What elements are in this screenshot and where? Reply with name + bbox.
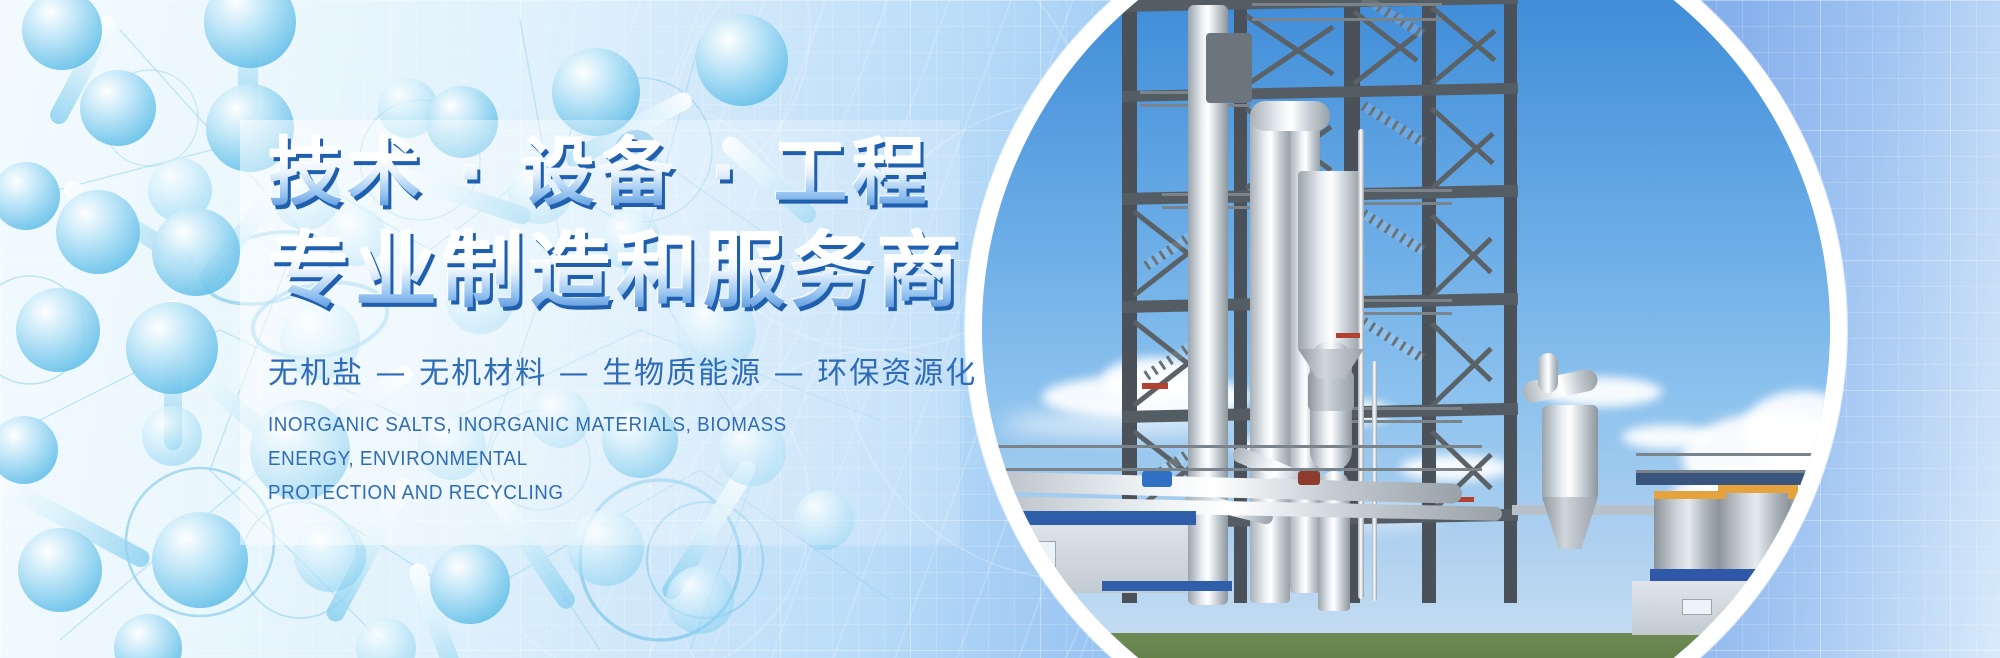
- chemical-plant-photo: [982, 0, 1830, 658]
- subtitle-chinese: 无机盐 — 无机材料 — 生物质能源 — 环保资源化: [268, 348, 988, 392]
- red-valve: [1298, 471, 1320, 485]
- cyclone-hopper: [1542, 405, 1598, 500]
- subtitle-english: INORGANIC SALTS, INORGANIC MATERIALS, BI…: [268, 408, 870, 510]
- hero-banner: 技术 · 设备 · 工程 专业制造和服务商 无机盐 — 无机材料 — 生物质能源…: [0, 0, 2000, 658]
- silo-catwalk: [1636, 473, 1830, 485]
- headline-line-2: 专业制造和服务商: [268, 222, 988, 322]
- subtitle-english-line-1: INORGANIC SALTS, INORGANIC MATERIALS, BI…: [268, 408, 870, 476]
- pipe-rack-handrail: [982, 445, 1482, 471]
- circular-photo-frame: [965, 0, 1847, 658]
- silo-building: [1632, 581, 1830, 635]
- headline-line-1: 技术 · 设备 · 工程: [268, 126, 988, 220]
- blue-valve: [1142, 471, 1172, 487]
- subtitle-english-line-2: PROTECTION AND RECYCLING: [268, 476, 870, 510]
- insulated-pipe-elbow: [1250, 101, 1330, 131]
- hero-text-block: 技术 · 设备 · 工程 专业制造和服务商 无机盐 — 无机材料 — 生物质能源…: [268, 126, 988, 510]
- duct-riser: [1538, 353, 1558, 393]
- insulated-pipe: [1250, 113, 1290, 603]
- silo-handrail: [1636, 453, 1830, 473]
